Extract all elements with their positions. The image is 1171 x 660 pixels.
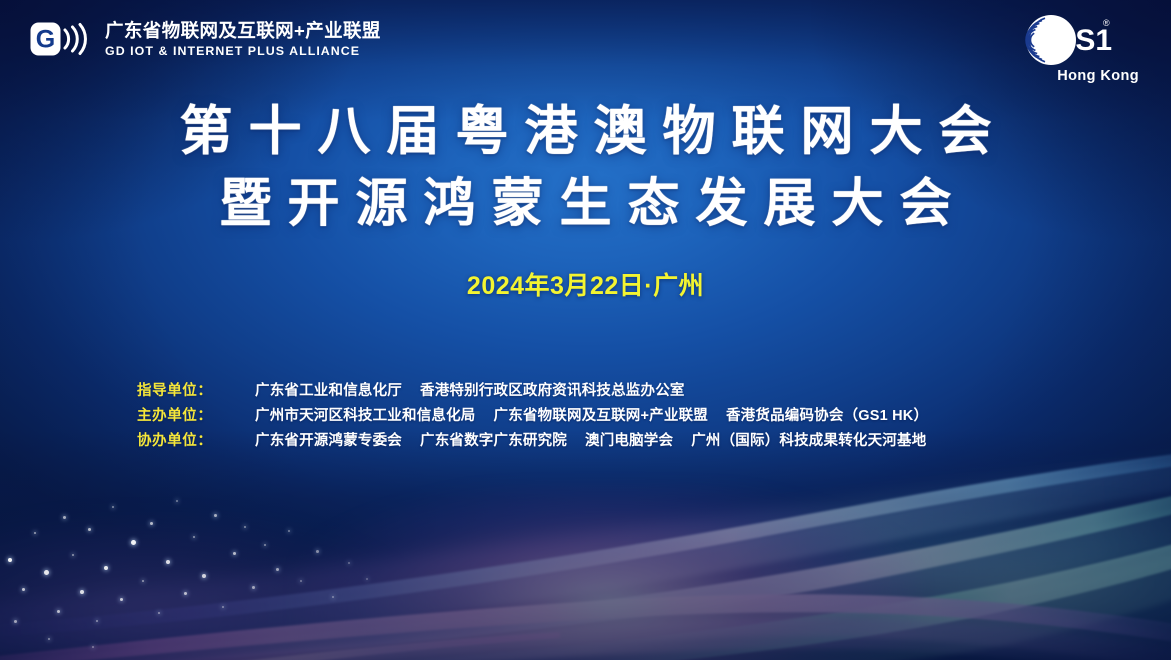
organizer-entries: 广东省开源鸿蒙专委会广东省数字广东研究院澳门电脑学会广州（国际）科技成果转化天河… <box>255 431 926 452</box>
organizer-entry: 广东省开源鸿蒙专委会 <box>255 433 402 449</box>
organizer-entries: 广东省工业和信息化厅香港特别行政区政府资讯科技总监办公室 <box>255 381 685 402</box>
gd-iot-name-en: GD IOT & INTERNET PLUS ALLIANCE <box>105 45 381 57</box>
gs1-region-label: Hong Kong <box>1057 68 1141 84</box>
organizer-label: 主办单位： <box>137 406 255 427</box>
organizer-label: 指导单位： <box>137 381 255 402</box>
sparkle-particles <box>0 470 420 660</box>
svg-text:GS1: GS1 <box>1052 24 1112 57</box>
headline-block: 第十八届粤港澳物联网大会 暨开源鸿蒙生态发展大会 2024年3月22日·广州 <box>0 96 1171 302</box>
gd-iot-alliance-logo: G 广东省物联网及互联网+产业联盟 GD IOT & INTERNET PLUS… <box>30 22 381 57</box>
organizer-entry: 广东省工业和信息化厅 <box>255 383 402 399</box>
organizer-label: 协办单位： <box>137 431 255 452</box>
title-line-1: 第十八届粤港澳物联网大会 <box>0 96 1171 168</box>
organizer-entry: 澳门电脑学会 <box>585 433 673 449</box>
svg-text:®: ® <box>1103 18 1110 28</box>
bottom-light-streaks <box>0 430 1171 660</box>
gd-iot-signal-g-icon: G <box>30 22 96 56</box>
organizer-entry: 香港货品编码协会（GS1 HK） <box>726 408 928 424</box>
organizer-row: 协办单位： 广东省开源鸿蒙专委会广东省数字广东研究院澳门电脑学会广州（国际）科技… <box>137 431 928 452</box>
gs1-hong-kong-logo: GS1 ® Hong Kong <box>1025 14 1141 84</box>
svg-text:G: G <box>36 26 55 54</box>
organizer-entry: 广东省数字广东研究院 <box>420 433 567 449</box>
organizer-entry: 广东省物联网及互联网+产业联盟 <box>494 408 708 424</box>
gs1-globe-icon: GS1 ® <box>1025 14 1141 66</box>
organizer-list: 指导单位： 广东省工业和信息化厅香港特别行政区政府资讯科技总监办公室 主办单位：… <box>137 381 928 452</box>
gd-iot-name-cn: 广东省物联网及互联网+产业联盟 <box>105 22 381 41</box>
organizer-row: 主办单位： 广州市天河区科技工业和信息化局广东省物联网及互联网+产业联盟香港货品… <box>137 406 928 427</box>
organizer-entry: 香港特别行政区政府资讯科技总监办公室 <box>420 383 685 399</box>
organizer-entry: 广州（国际）科技成果转化天河基地 <box>691 433 926 449</box>
conference-poster: G 广东省物联网及互联网+产业联盟 GD IOT & INTERNET PLUS… <box>0 0 1171 660</box>
organizer-entries: 广州市天河区科技工业和信息化局广东省物联网及互联网+产业联盟香港货品编码协会（G… <box>255 406 928 427</box>
title-line-2: 暨开源鸿蒙生态发展大会 <box>0 168 1171 240</box>
gd-iot-wordmark: 广东省物联网及互联网+产业联盟 GD IOT & INTERNET PLUS A… <box>105 22 381 57</box>
event-date-location: 2024年3月22日·广州 <box>0 266 1171 302</box>
organizer-entry: 广州市天河区科技工业和信息化局 <box>255 408 476 424</box>
organizer-row: 指导单位： 广东省工业和信息化厅香港特别行政区政府资讯科技总监办公室 <box>137 381 928 402</box>
